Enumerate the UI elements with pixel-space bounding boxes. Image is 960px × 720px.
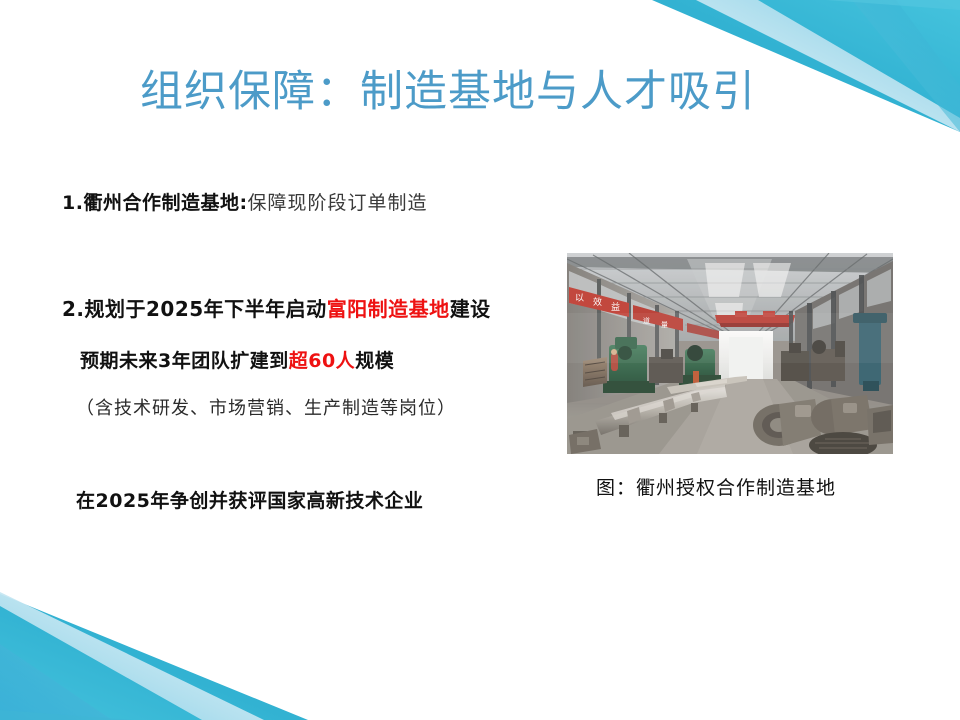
- sub1-highlight: 超60人: [289, 350, 355, 372]
- page-title: 组织保障：制造基地与人才吸引: [140, 66, 756, 120]
- bullet-1-plain: 保障现阶段订单制造: [248, 192, 428, 214]
- bullet-item-2-sub-2: （含技术研发、市场营销、生产制造等岗位）: [76, 394, 582, 424]
- bullet-item-2-sub-1: 预期未来3年团队扩建到超60人规模: [80, 346, 582, 376]
- sub1-prefix: 预期未来3年团队扩建到: [80, 350, 289, 372]
- diagonal-ribbon-bottom-left-icon: [0, 588, 320, 720]
- body-content: 1.衢州合作制造基地:保障现阶段订单制造 2.规划于2025年下半年启动富阳制造…: [62, 188, 582, 516]
- bullet-1-bold: 1.衢州合作制造基地:: [62, 192, 248, 214]
- bullet-2-highlight: 富阳制造基地: [327, 297, 450, 321]
- bullet-item-3: 在2025年争创并获评国家高新技术企业: [76, 486, 582, 516]
- bullet-item-2: 2.规划于2025年下半年启动富阳制造基地建设: [62, 294, 582, 324]
- bullet-2-prefix: 2.规划于2025年下半年启动: [62, 297, 327, 321]
- bullet-item-1: 1.衢州合作制造基地:保障现阶段订单制造: [62, 188, 582, 218]
- slide-canvas: 组织保障：制造基地与人才吸引 1.衢州合作制造基地:保障现阶段订单制造 2.规划…: [0, 0, 960, 720]
- factory-photo: 以 效 益 道 量: [567, 253, 893, 454]
- sub1-suffix: 规模: [355, 350, 394, 372]
- photo-caption: 图：衢州授权合作制造基地: [596, 473, 916, 500]
- bullet-2-suffix: 建设: [450, 297, 491, 321]
